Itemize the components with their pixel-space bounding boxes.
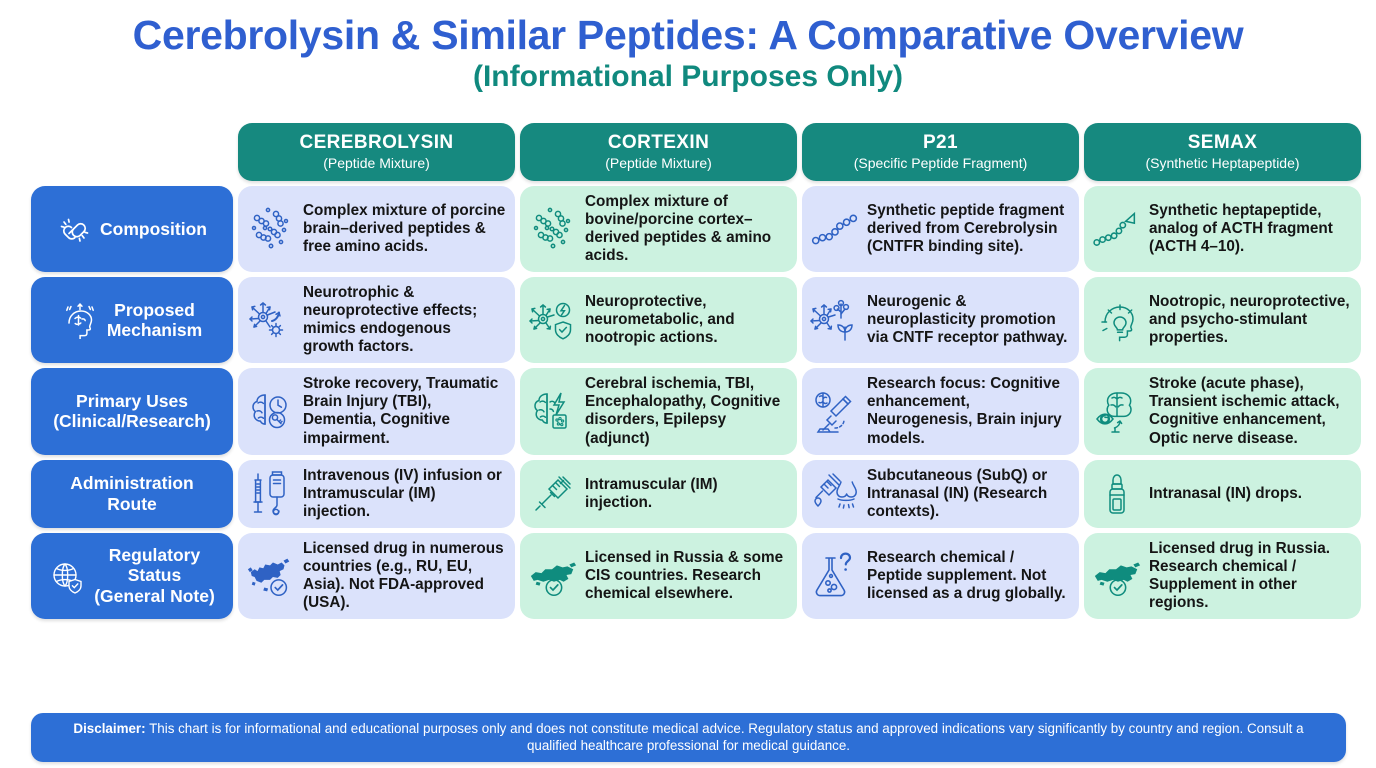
cell-text: Complex mixture of porcine brain–derived… xyxy=(303,202,506,256)
cell-text: Neuroprotective, neurometabolic, and noo… xyxy=(585,293,788,347)
row-label-line1: Proposed xyxy=(114,300,195,320)
cell-composition-cortexin: Complex mixture of bovine/porcine cortex… xyxy=(520,186,797,272)
title-block: Cerebrolysin & Similar Peptides: A Compa… xyxy=(0,0,1376,93)
cell-regulatory-cerebrolysin: Licensed drug in numerous countries (e.g… xyxy=(238,533,515,619)
column-header-sub: (Specific Peptide Fragment) xyxy=(854,155,1028,171)
cell-mechanism-cerebrolysin: Neurotrophic & neuroprotective effects; … xyxy=(238,277,515,363)
row-label-line2: Status xyxy=(128,565,181,585)
cell-text: Nootropic, neuroprotective, and psycho-s… xyxy=(1149,293,1352,347)
cell-text: Synthetic heptapeptide, analog of ACTH f… xyxy=(1149,202,1352,256)
grid-corner-spacer xyxy=(31,123,233,181)
head-lightbulb-icon xyxy=(1091,294,1143,346)
dna-link-icon xyxy=(57,212,91,246)
row-label-line3: (General Note) xyxy=(94,586,215,606)
syringe-iv-bag-icon xyxy=(245,468,297,520)
cell-uses-cortexin: Cerebral ischemia, TBI, Encephalopathy, … xyxy=(520,368,797,454)
column-header-name: CORTEXIN xyxy=(608,133,709,154)
cell-route-cortexin: Intramuscular (IM) injection. xyxy=(520,460,797,528)
nasal-spray-icon xyxy=(1091,468,1143,520)
cell-regulatory-cortexin: Licensed in Russia & some CIS countries.… xyxy=(520,533,797,619)
cell-text: Research chemical / Peptide supplement. … xyxy=(867,549,1070,603)
cell-uses-cerebrolysin: Stroke recovery, Traumatic Brain Injury … xyxy=(238,368,515,454)
row-label-line1: Primary Uses xyxy=(76,391,188,411)
cell-text: Stroke recovery, Traumatic Brain Injury … xyxy=(303,375,506,447)
syringe-icon xyxy=(527,468,579,520)
column-header-name: P21 xyxy=(923,133,958,154)
comparison-grid: CEREBROLYSIN (Peptide Mixture) CORTEXIN … xyxy=(31,123,1346,619)
cell-text: Cerebral ischemia, TBI, Encephalopathy, … xyxy=(585,375,788,447)
flask-question-icon xyxy=(809,550,861,602)
cell-text: Synthetic peptide fragment derived from … xyxy=(867,202,1070,256)
cell-text: Licensed drug in Russia. Research chemic… xyxy=(1149,540,1352,612)
row-label-text: Regulatory Status (General Note) xyxy=(94,545,215,607)
peptide-chain-arrow-icon xyxy=(1091,207,1143,251)
row-label-text: Proposed Mechanism xyxy=(107,300,202,341)
cell-route-semax: Intranasal (IN) drops. xyxy=(1084,460,1361,528)
europe-map-check-icon xyxy=(245,550,297,602)
row-label-line2: Mechanism xyxy=(107,320,202,340)
disclaimer-bar: Disclaimer: This chart is for informatio… xyxy=(31,713,1346,762)
row-label-line1: Administration xyxy=(70,473,193,493)
cell-text: Neurotrophic & neuroprotective effects; … xyxy=(303,284,506,356)
cell-mechanism-cortexin: Neuroprotective, neurometabolic, and noo… xyxy=(520,277,797,363)
column-header-cerebrolysin: CEREBROLYSIN (Peptide Mixture) xyxy=(238,123,515,181)
cell-text: Intramuscular (IM) injection. xyxy=(585,476,788,512)
row-label-line2: (Clinical/Research) xyxy=(53,411,211,431)
row-label-line2: Route xyxy=(107,494,157,514)
row-label-line1: Regulatory xyxy=(109,545,200,565)
russia-map-check-icon xyxy=(1091,550,1143,602)
column-header-semax: SEMAX (Synthetic Heptapeptide) xyxy=(1084,123,1361,181)
column-header-name: CEREBROLYSIN xyxy=(299,133,453,154)
neuron-growth-icon xyxy=(245,294,297,346)
cell-text: Research focus: Cognitive enhancement, N… xyxy=(867,375,1070,447)
cell-text: Stroke (acute phase), Transient ischemic… xyxy=(1149,375,1352,447)
cell-text: Intravenous (IV) infusion or Intramuscul… xyxy=(303,467,506,521)
cell-text: Neurogenic & neuroplasticity promotion v… xyxy=(867,293,1070,347)
row-label-administration-route: Administration Route xyxy=(31,460,233,528)
disclaimer-label: Disclaimer: xyxy=(73,721,145,736)
peptide-cluster-icon xyxy=(245,202,297,256)
cell-uses-p21: Research focus: Cognitive enhancement, N… xyxy=(802,368,1079,454)
brain-head-signal-icon xyxy=(62,301,98,339)
cell-mechanism-semax: Nootropic, neuroprotective, and psycho-s… xyxy=(1084,277,1361,363)
infographic-page: Cerebrolysin & Similar Peptides: A Compa… xyxy=(0,0,1376,768)
column-header-p21: P21 (Specific Peptide Fragment) xyxy=(802,123,1079,181)
cell-text: Intranasal (IN) drops. xyxy=(1149,485,1352,503)
cell-regulatory-semax: Licensed drug in Russia. Research chemic… xyxy=(1084,533,1361,619)
disclaimer-text: This chart is for informational and educ… xyxy=(146,721,1304,753)
cell-mechanism-p21: Neurogenic & neuroplasticity promotion v… xyxy=(802,277,1079,363)
peptide-chain-icon xyxy=(809,207,861,251)
row-label-regulatory-status: Regulatory Status (General Note) xyxy=(31,533,233,619)
column-header-cortexin: CORTEXIN (Peptide Mixture) xyxy=(520,123,797,181)
column-header-sub: (Peptide Mixture) xyxy=(323,155,430,171)
page-subtitle: (Informational Purposes Only) xyxy=(0,61,1376,93)
cell-composition-semax: Synthetic heptapeptide, analog of ACTH f… xyxy=(1084,186,1361,272)
row-label-composition: Composition xyxy=(31,186,233,272)
microscope-brain-icon xyxy=(809,385,861,437)
column-header-name: SEMAX xyxy=(1188,133,1258,154)
cell-composition-cerebrolysin: Complex mixture of porcine brain–derived… xyxy=(238,186,515,272)
cell-route-cerebrolysin: Intravenous (IV) infusion or Intramuscul… xyxy=(238,460,515,528)
peptide-cluster-icon xyxy=(527,202,579,256)
row-label-text: Composition xyxy=(100,219,207,240)
cell-text: Complex mixture of bovine/porcine cortex… xyxy=(585,193,788,265)
cell-regulatory-p21: Research chemical / Peptide supplement. … xyxy=(802,533,1079,619)
column-header-sub: (Peptide Mixture) xyxy=(605,155,712,171)
brain-lightning-icon xyxy=(527,385,579,437)
row-label-text: Primary Uses (Clinical/Research) xyxy=(53,391,211,432)
neuron-sprout-icon xyxy=(809,294,861,346)
cell-text: Subcutaneous (SubQ) or Intranasal (IN) (… xyxy=(867,467,1070,521)
brain-eye-icon xyxy=(1091,385,1143,437)
row-label-primary-uses: Primary Uses (Clinical/Research) xyxy=(31,368,233,454)
cell-uses-semax: Stroke (acute phase), Transient ischemic… xyxy=(1084,368,1361,454)
syringe-nose-icon xyxy=(809,468,861,520)
brain-clock-icon xyxy=(245,385,297,437)
globe-shield-icon xyxy=(49,558,85,594)
cell-text: Licensed in Russia & some CIS countries.… xyxy=(585,549,788,603)
cell-text: Licensed drug in numerous countries (e.g… xyxy=(303,540,506,612)
russia-map-check-icon xyxy=(527,550,579,602)
page-title: Cerebrolysin & Similar Peptides: A Compa… xyxy=(0,14,1376,57)
cell-composition-p21: Synthetic peptide fragment derived from … xyxy=(802,186,1079,272)
cell-route-p21: Subcutaneous (SubQ) or Intranasal (IN) (… xyxy=(802,460,1079,528)
row-label-proposed-mechanism: Proposed Mechanism xyxy=(31,277,233,363)
column-header-sub: (Synthetic Heptapeptide) xyxy=(1145,155,1299,171)
neuron-shield-icon xyxy=(527,294,579,346)
row-label-text: Administration Route xyxy=(70,473,193,514)
